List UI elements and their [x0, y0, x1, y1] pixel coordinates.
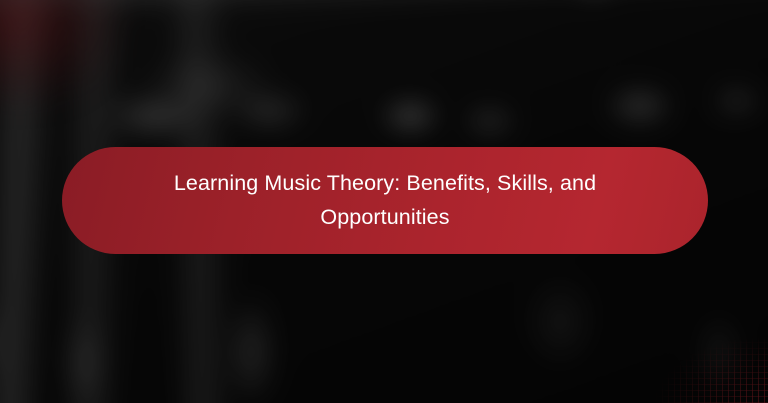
background-red-glow	[0, 0, 120, 104]
title-banner-pill: Learning Music Theory: Benefits, Skills,…	[62, 147, 708, 254]
hero-banner-screen: Learning Music Theory: Benefits, Skills,…	[0, 0, 768, 403]
background-red-grid-texture	[656, 337, 768, 403]
page-title: Learning Music Theory: Benefits, Skills,…	[148, 167, 622, 234]
